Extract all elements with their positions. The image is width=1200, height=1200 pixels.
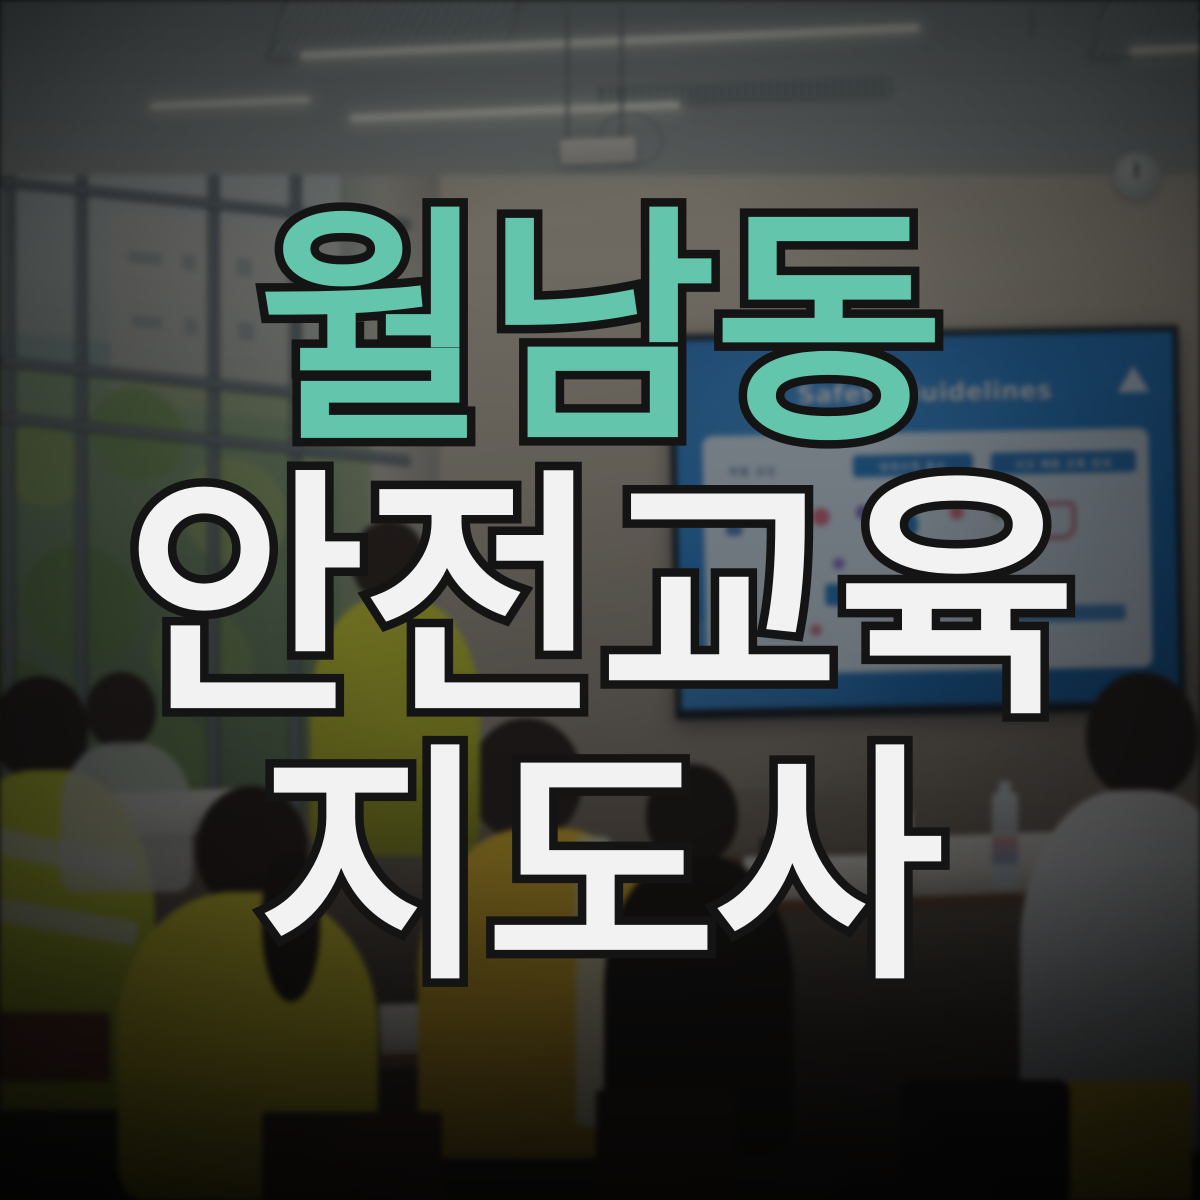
title-line-1: 월남동	[258, 201, 942, 461]
poster-title-block: 월남동 안전교육 지도사	[0, 0, 1200, 1200]
poster-canvas: Safety Guidelines 위험 요인 안전수칙 준수 사고 예방 교육…	[0, 0, 1200, 1200]
title-line-2: 안전교육	[126, 465, 1075, 735]
title-line-3: 지도사	[258, 739, 942, 999]
